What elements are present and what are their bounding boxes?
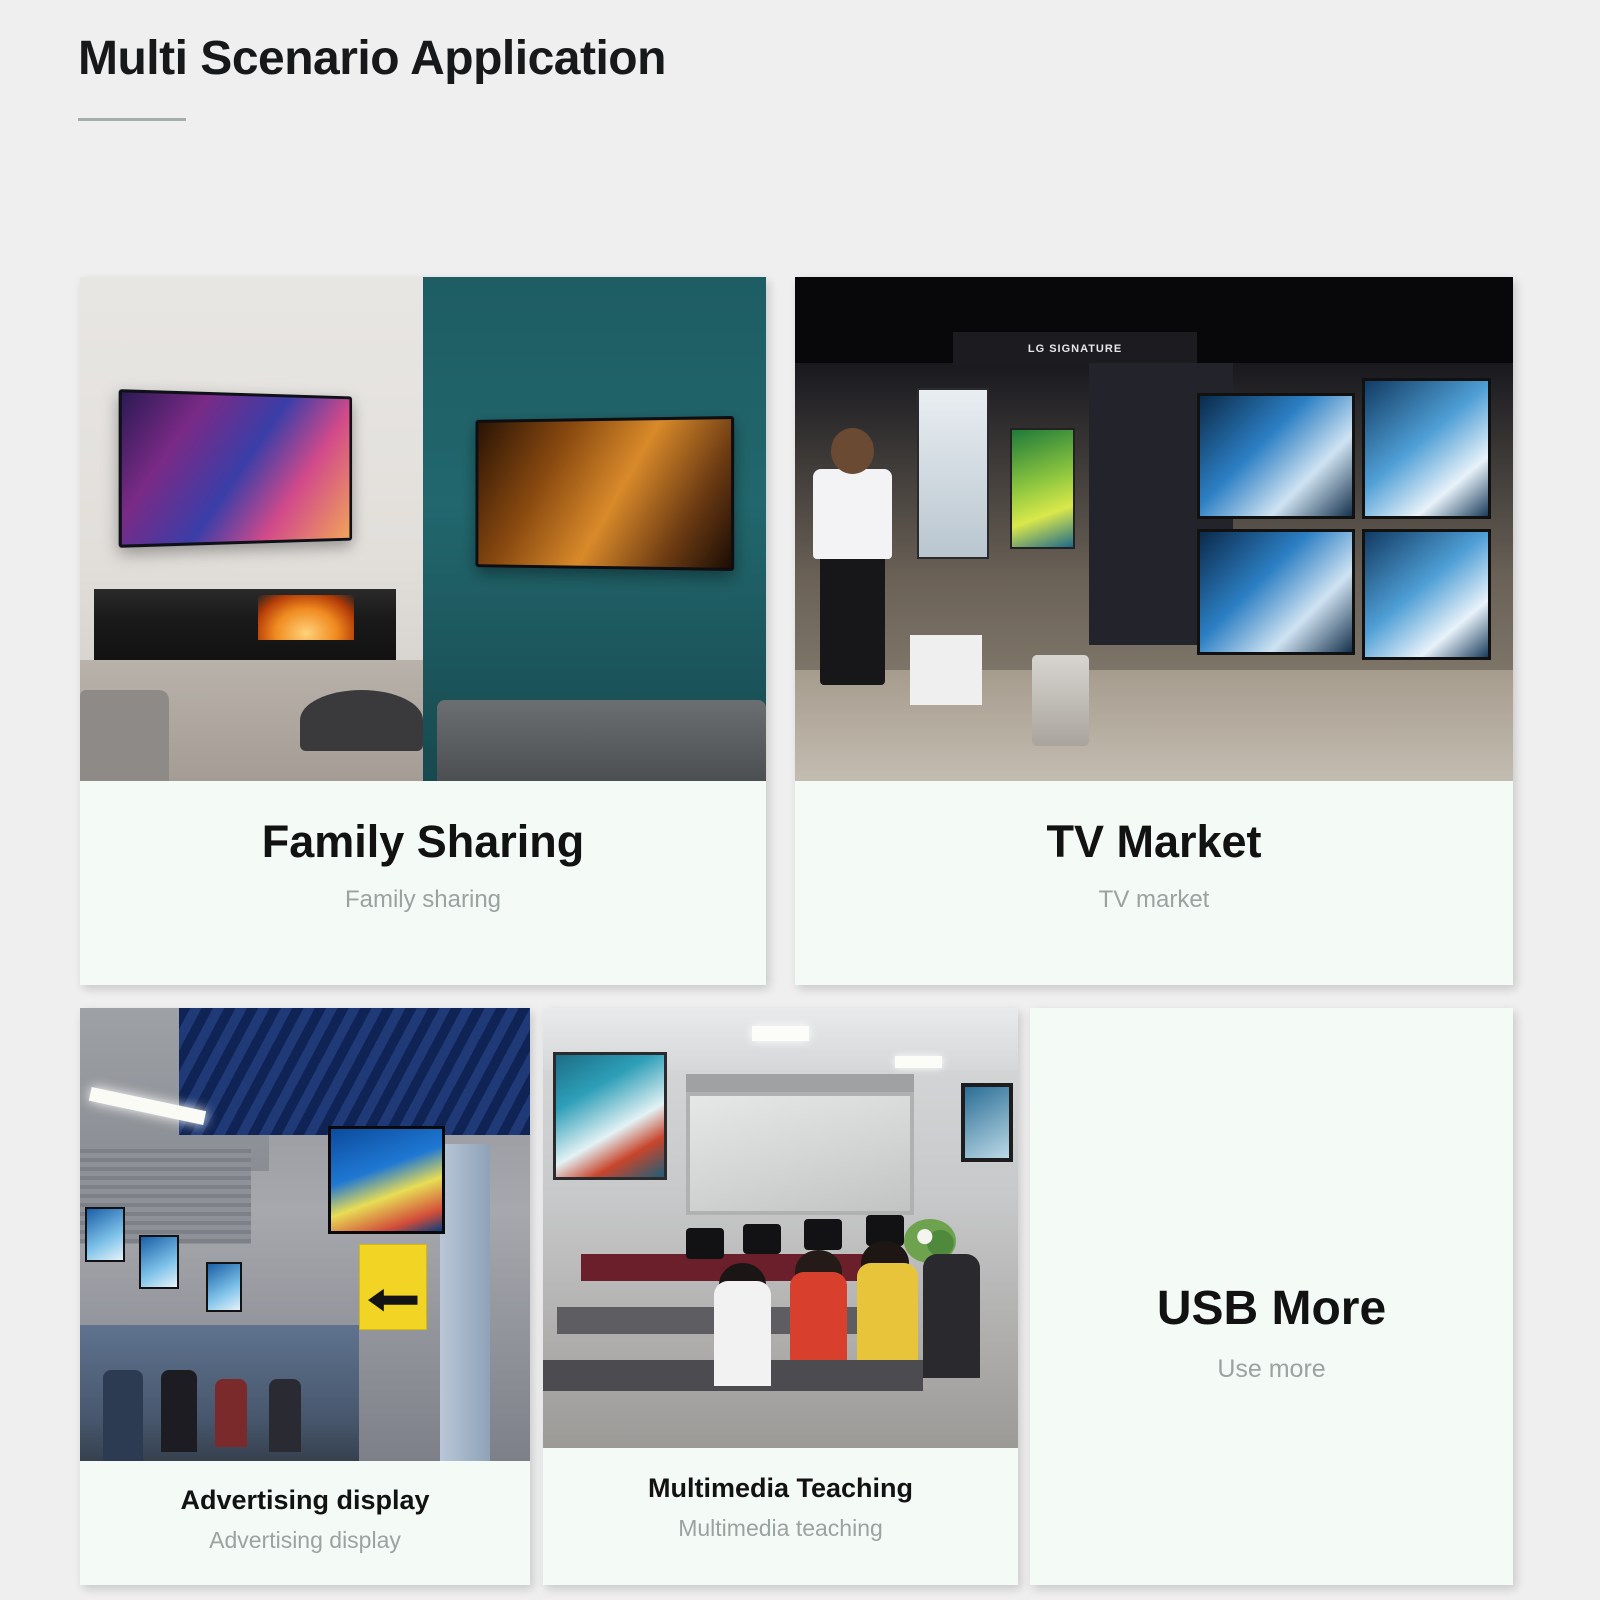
student-1 bbox=[714, 1281, 771, 1387]
sofa bbox=[80, 690, 169, 781]
showroom-display-panel-1 bbox=[917, 388, 989, 559]
showroom-display-panel-2 bbox=[1010, 428, 1075, 549]
card-subtitle-advertising-display: Advertising display bbox=[80, 1528, 530, 1553]
card-caption-multimedia-teaching: Multimedia Teaching Multimedia teaching bbox=[543, 1474, 1018, 1541]
scenario-card-tv-market[interactable]: LG SIGNATURE TV Market TV market bbox=[795, 277, 1513, 985]
commuter-2 bbox=[161, 1370, 197, 1452]
wall-mounted-display bbox=[961, 1083, 1013, 1162]
scenario-card-usb-more[interactable]: USB More Use more bbox=[1030, 1008, 1513, 1585]
shopper-head bbox=[831, 428, 874, 473]
card-title-multimedia-teaching: Multimedia Teaching bbox=[543, 1474, 1018, 1504]
wall-mounted-tv-left bbox=[119, 389, 353, 548]
scene-subway-station bbox=[80, 1008, 530, 1461]
card-caption-tv-market: TV Market TV market bbox=[795, 817, 1513, 913]
lecture-chair-1 bbox=[686, 1228, 724, 1259]
card-caption-advertising-display: Advertising display Advertising display bbox=[80, 1486, 530, 1553]
scene-tv-showroom: LG SIGNATURE bbox=[795, 277, 1513, 781]
card-photo-multimedia-teaching bbox=[543, 1008, 1018, 1448]
station-monitor-3 bbox=[206, 1262, 242, 1312]
ceiling-light-1 bbox=[752, 1026, 809, 1041]
commuter-1 bbox=[103, 1370, 144, 1461]
card-subtitle-usb-more: Use more bbox=[1030, 1356, 1513, 1384]
fireplace-flame bbox=[258, 595, 354, 640]
commuter-3 bbox=[215, 1379, 247, 1447]
card-caption-usb-more: USB More Use more bbox=[1030, 1283, 1513, 1383]
ceiling-light-2 bbox=[895, 1056, 943, 1067]
page-title: Multi Scenario Application bbox=[78, 34, 666, 84]
station-yellow-direction-sign bbox=[359, 1244, 427, 1330]
scene-living-room bbox=[80, 277, 766, 781]
card-subtitle-multimedia-teaching: Multimedia teaching bbox=[543, 1516, 1018, 1541]
commuter-4 bbox=[269, 1379, 301, 1451]
card-photo-family-sharing bbox=[80, 277, 766, 781]
station-pillar bbox=[440, 1144, 490, 1461]
showroom-display-panel-6 bbox=[1362, 529, 1491, 660]
station-advertising-screen-large bbox=[328, 1126, 445, 1235]
shopper-legs bbox=[820, 554, 885, 685]
lecture-chair-3 bbox=[804, 1219, 842, 1250]
projection-screen bbox=[553, 1052, 667, 1180]
showroom-display-panel-3 bbox=[1197, 393, 1355, 519]
card-title-usb-more: USB More bbox=[1030, 1283, 1513, 1336]
card-photo-tv-market: LG SIGNATURE bbox=[795, 277, 1513, 781]
store-signage-lg-signature: LG SIGNATURE bbox=[953, 332, 1197, 365]
bench-seat bbox=[437, 700, 766, 781]
station-blue-ribbed-roof bbox=[179, 1008, 530, 1135]
card-title-tv-market: TV Market bbox=[795, 817, 1513, 867]
scenario-card-multimedia-teaching[interactable]: Multimedia Teaching Multimedia teaching bbox=[543, 1008, 1018, 1585]
lecture-chair-2 bbox=[743, 1224, 781, 1255]
card-subtitle-tv-market: TV market bbox=[795, 887, 1513, 913]
showroom-floor bbox=[795, 670, 1513, 781]
card-title-advertising-display: Advertising display bbox=[80, 1486, 530, 1516]
station-monitor-2 bbox=[139, 1235, 180, 1289]
scenario-card-family-sharing[interactable]: Family Sharing Family sharing bbox=[80, 277, 766, 985]
card-caption-family-sharing: Family Sharing Family sharing bbox=[80, 817, 766, 913]
coffee-table bbox=[300, 690, 423, 750]
showroom-display-panel-5 bbox=[1362, 378, 1491, 519]
showroom-display-panel-4 bbox=[1197, 529, 1355, 655]
card-subtitle-family-sharing: Family sharing bbox=[80, 887, 766, 913]
showroom-trash-bin bbox=[1032, 655, 1089, 746]
scene-classroom bbox=[543, 1008, 1018, 1448]
card-title-family-sharing: Family Sharing bbox=[80, 817, 766, 867]
title-underline-rule bbox=[78, 118, 186, 121]
station-monitor-1 bbox=[85, 1207, 126, 1261]
classroom-whiteboard bbox=[686, 1092, 914, 1215]
card-photo-advertising-display bbox=[80, 1008, 530, 1461]
page-root: Multi Scenario Application Family Sharin… bbox=[0, 0, 1600, 1600]
student-4 bbox=[923, 1254, 980, 1377]
wall-mounted-tv-right bbox=[476, 416, 734, 571]
shopper-torso bbox=[813, 469, 892, 560]
scenario-card-advertising-display[interactable]: Advertising display Advertising display bbox=[80, 1008, 530, 1585]
showroom-pedestal bbox=[910, 635, 982, 706]
